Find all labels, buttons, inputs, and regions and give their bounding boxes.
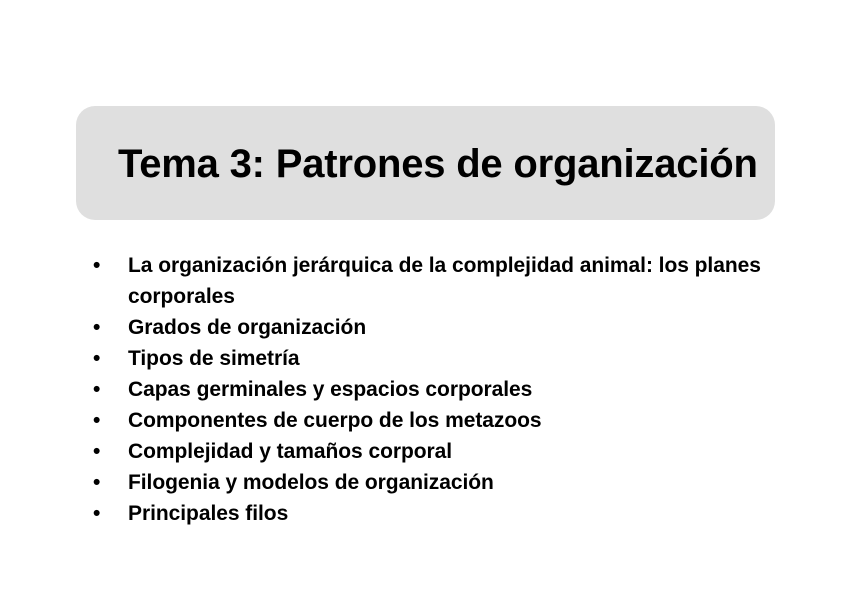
bullet-dot-icon: • <box>93 436 113 467</box>
bullet-dot-icon: • <box>93 374 113 405</box>
list-item: • Tipos de simetría <box>93 343 783 374</box>
slide-canvas: Tema 3: Patrones de organización • La or… <box>0 0 848 599</box>
list-item: • Complejidad y tamaños corporal <box>93 436 783 467</box>
list-item: • Principales filos <box>93 498 783 529</box>
bullet-dot-icon: • <box>93 250 113 281</box>
list-item-label: Complejidad y tamaños corporal <box>128 436 783 467</box>
list-item: • Componentes de cuerpo de los metazoos <box>93 405 783 436</box>
list-item-label: Tipos de simetría <box>128 343 783 374</box>
list-item-label: Grados de organización <box>128 312 783 343</box>
topic-list: • La organización jerárquica de la compl… <box>93 250 783 529</box>
list-item-label: Principales filos <box>128 498 783 529</box>
bullet-dot-icon: • <box>93 312 113 343</box>
list-item: • Filogenia y modelos de organización <box>93 467 783 498</box>
list-item: • Grados de organización <box>93 312 783 343</box>
bullet-dot-icon: • <box>93 498 113 529</box>
bullet-dot-icon: • <box>93 467 113 498</box>
list-item: • Capas germinales y espacios corporales <box>93 374 783 405</box>
title-banner: Tema 3: Patrones de organización <box>76 106 775 220</box>
page-title: Tema 3: Patrones de organización <box>118 142 758 186</box>
list-item-label: Filogenia y modelos de organización <box>128 467 783 498</box>
list-item-label: Componentes de cuerpo de los metazoos <box>128 405 783 436</box>
bullet-dot-icon: • <box>93 343 113 374</box>
bullet-dot-icon: • <box>93 405 113 436</box>
list-item-label: La organización jerárquica de la complej… <box>128 250 783 312</box>
list-item: • La organización jerárquica de la compl… <box>93 250 783 312</box>
list-item-label: Capas germinales y espacios corporales <box>128 374 783 405</box>
